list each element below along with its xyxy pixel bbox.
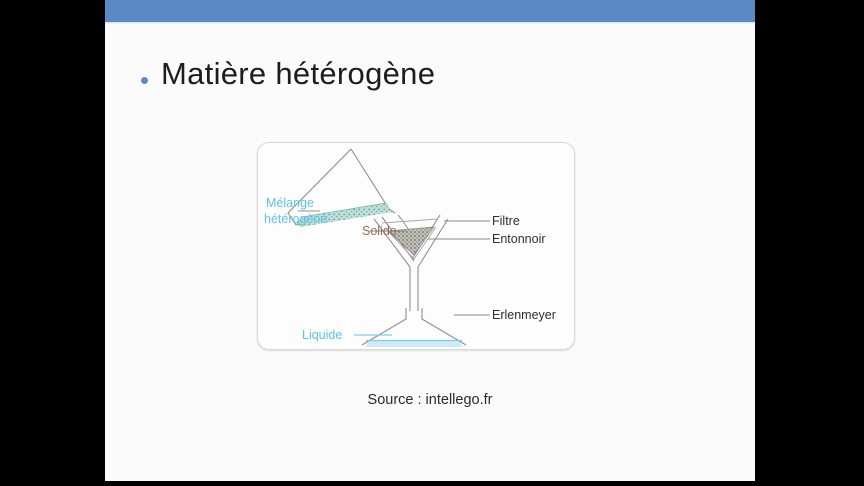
slide-header-edge — [105, 22, 755, 24]
label-solid: Solide — [362, 224, 397, 238]
filtration-diagram-mirror: Erlenmeyer Liquide — [257, 349, 573, 395]
label-funnel: Entonnoir — [492, 232, 546, 246]
diagram-reflection: Erlenmeyer Liquide — [257, 349, 573, 395]
erlenmeyer-flask — [362, 308, 466, 345]
video-frame: Matière hétérogène — [0, 0, 864, 486]
slide-title-row: Matière hétérogène — [141, 56, 435, 92]
presentation-slide: Matière hétérogène — [105, 0, 755, 481]
diagram-card: Mélange hétérogène Solide Filtre Entonno… — [257, 142, 575, 350]
bullet-icon — [141, 77, 148, 84]
slide-header-bar — [105, 0, 755, 22]
liquid-fill — [365, 341, 463, 347]
label-mixture-line2: hétérogène — [264, 212, 327, 226]
filtration-diagram: Mélange hétérogène Solide Filtre Entonno… — [258, 143, 574, 349]
label-filter: Filtre — [492, 214, 520, 228]
label-liquid: Liquide — [302, 328, 342, 342]
source-credit: Source : intellego.fr — [105, 392, 755, 408]
label-mixture-line1: Mélange — [266, 196, 314, 210]
page-title: Matière hétérogène — [161, 56, 435, 92]
label-flask: Erlenmeyer — [492, 308, 556, 322]
